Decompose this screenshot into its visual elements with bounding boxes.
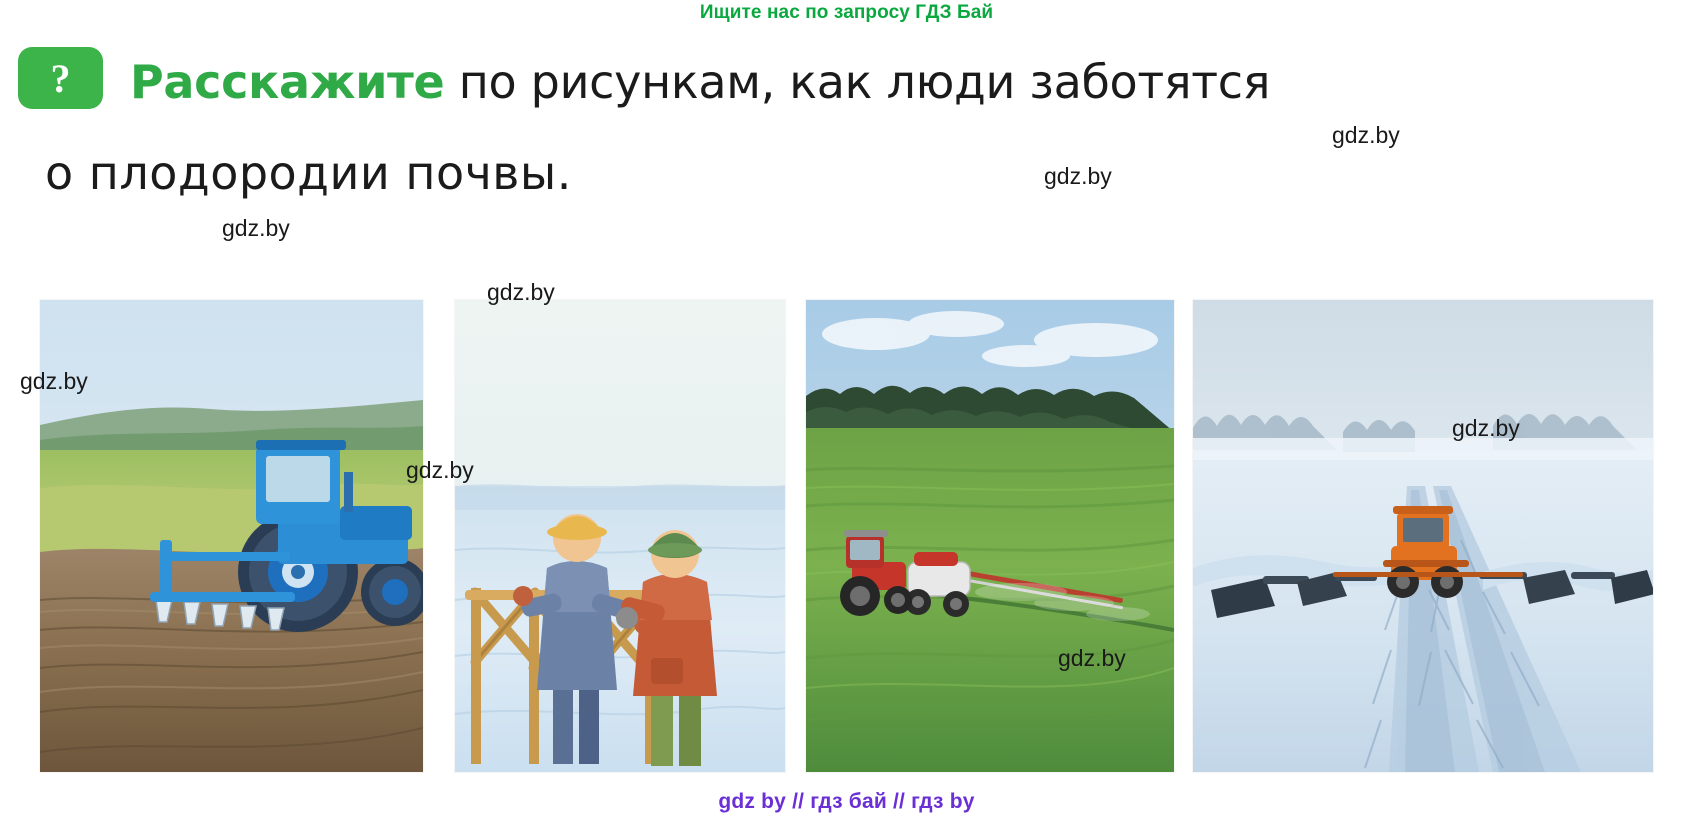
question-badge: ? [18,47,103,109]
question-line-1: Расскажите по рисункам, как люди заботят… [130,52,1680,113]
watermark: gdz.by [1058,645,1126,672]
question-line-1-rest: по рисункам, как люди заботятся [444,55,1270,109]
top-banner-text: Ищите нас по запросу ГДЗ Бай [0,2,1693,24]
watermark: gdz.by [406,457,474,484]
figure-strip [0,300,1693,772]
figure-winter-snow-retention [1193,300,1653,772]
figure-1-illustration [40,300,423,772]
watermark: gdz.by [20,368,88,395]
watermark: gdz.by [1044,163,1112,190]
watermark: gdz.by [487,279,555,306]
figure-tractor-spraying [806,300,1174,772]
page-root: Ищите нас по запросу ГДЗ Бай ? Расскажит… [0,0,1693,823]
figure-snow-fence-builders [455,300,785,772]
figure-3-illustration [806,300,1174,772]
question-accent-word: Расскажите [130,55,444,109]
figure-4-illustration [1193,300,1653,772]
bottom-watermark-line: gdz by // гдз бай // гдз by [0,790,1693,814]
figure-2-illustration [455,300,785,772]
question-line-2: о плодородии почвы. [45,146,572,200]
watermark: gdz.by [1332,122,1400,149]
watermark: gdz.by [222,215,290,242]
watermark: gdz.by [1452,415,1520,442]
figure-tractor-plowing [40,300,423,772]
